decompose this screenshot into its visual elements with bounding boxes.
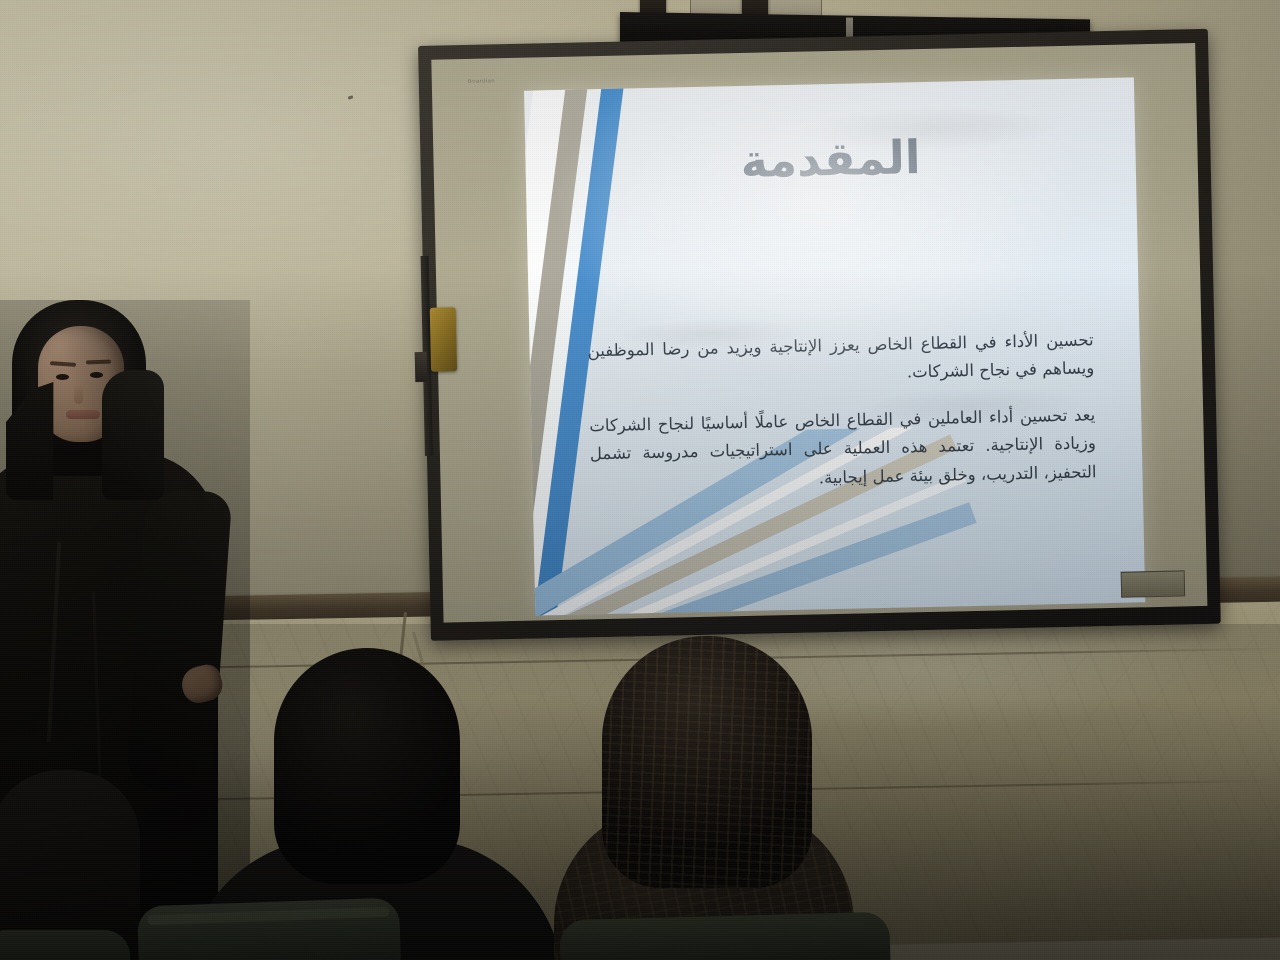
whiteboard-surface: Boardian المقدمة تحسين الأداء في xyxy=(431,43,1207,623)
whiteboard-brand-label: Boardian xyxy=(468,79,495,85)
whiteboard-rail-tab xyxy=(415,352,428,382)
slide-paragraph-2: يعد تحسين أداء العاملين في القطاع الخاص … xyxy=(589,401,1097,497)
classroom-photo: Boardian المقدمة تحسين الأداء في xyxy=(0,0,1280,960)
chair-back-left xyxy=(0,930,130,960)
interactive-whiteboard[interactable]: Boardian المقدمة تحسين الأداء في xyxy=(418,29,1221,641)
slide-title: المقدمة xyxy=(525,129,1136,188)
attendee-head xyxy=(602,636,812,888)
presenter-hijab-drape-right xyxy=(102,370,164,500)
projected-slide: المقدمة تحسين الأداء في القطاع الخاص يعز… xyxy=(524,77,1145,615)
attendee-head xyxy=(274,648,460,884)
chair-back-right xyxy=(559,912,890,960)
yellow-marker-holder[interactable] xyxy=(430,307,457,372)
seated-attendee-right xyxy=(540,636,880,960)
slide-paragraph-1: تحسين الأداء في القطاع الخاص يعزز الإنتا… xyxy=(587,326,1094,394)
hijab-pattern xyxy=(602,636,812,888)
abaya-fold xyxy=(47,542,61,742)
slide-body: تحسين الأداء في القطاع الخاص يعزز الإنتا… xyxy=(587,326,1097,515)
whiteboard-nameplate xyxy=(1121,570,1186,597)
chair-back-center xyxy=(137,897,401,960)
slide-content: المقدمة تحسين الأداء في القطاع الخاص يعز… xyxy=(524,77,1145,615)
